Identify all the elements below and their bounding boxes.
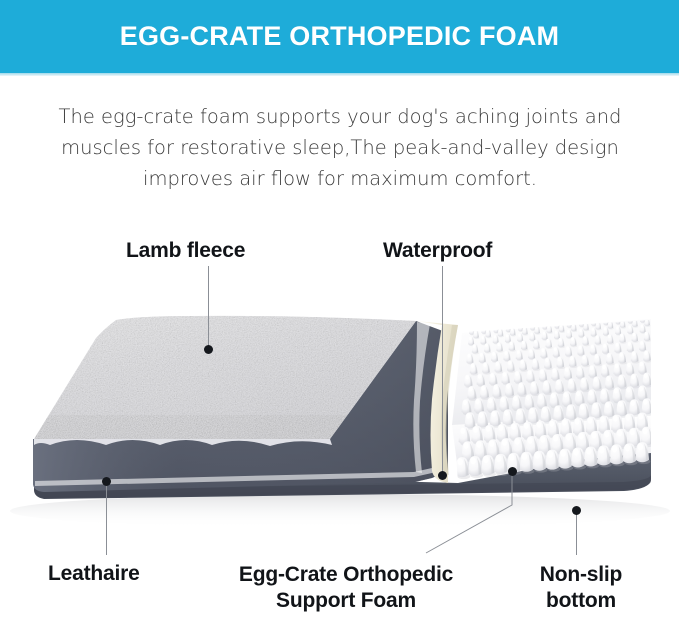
description-line-2: muscles for restorative sleep,The peak-a… bbox=[55, 132, 625, 163]
page-title: EGG-CRATE ORTHOPEDIC FOAM bbox=[120, 21, 560, 52]
callout-label-lamb-fleece: Lamb fleece bbox=[126, 239, 245, 263]
callout-dot-waterproof bbox=[438, 471, 447, 480]
callout-label-waterproof: Waterproof bbox=[383, 239, 492, 263]
callout-dot-nonslip bbox=[572, 506, 581, 515]
callout-text-egg-crate-line2: Support Foam bbox=[211, 588, 481, 614]
leader-line-leathaire bbox=[106, 483, 107, 555]
callout-text-egg-crate-line1: Egg-Crate Orthopedic bbox=[211, 562, 481, 588]
callout-dot-egg-crate bbox=[508, 467, 517, 476]
header-divider bbox=[0, 73, 679, 76]
callout-label-nonslip: Non-slip bottom bbox=[527, 562, 635, 614]
callout-text-nonslip-line1: Non-slip bbox=[527, 562, 635, 588]
product-illustration: SUNMEIR bbox=[0, 275, 679, 545]
callout-text-nonslip-line2: bottom bbox=[527, 588, 635, 614]
egg-crate-foam bbox=[452, 315, 654, 480]
callout-text-lamb-fleece: Lamb fleece bbox=[126, 239, 245, 262]
callout-text-waterproof: Waterproof bbox=[383, 239, 492, 262]
dog-bed-cutaway-graphic: SUNMEIR bbox=[0, 275, 679, 545]
leader-line-waterproof bbox=[442, 266, 443, 474]
leader-line-nonslip bbox=[576, 512, 577, 555]
callout-text-leathaire: Leathaire bbox=[48, 562, 140, 585]
header-banner: EGG-CRATE ORTHOPEDIC FOAM bbox=[0, 0, 679, 73]
callout-label-egg-crate: Egg-Crate Orthopedic Support Foam bbox=[211, 562, 481, 614]
callout-dot-leathaire bbox=[102, 477, 111, 486]
description-line-3: improves air flow for maximum comfort. bbox=[55, 163, 625, 194]
callout-label-leathaire: Leathaire bbox=[48, 562, 140, 586]
description-line-1: The egg-crate foam supports your dog's a… bbox=[55, 101, 625, 132]
callout-dot-lamb-fleece bbox=[204, 345, 213, 354]
leader-line-lamb-fleece bbox=[208, 266, 209, 347]
product-description: The egg-crate foam supports your dog's a… bbox=[55, 101, 625, 194]
